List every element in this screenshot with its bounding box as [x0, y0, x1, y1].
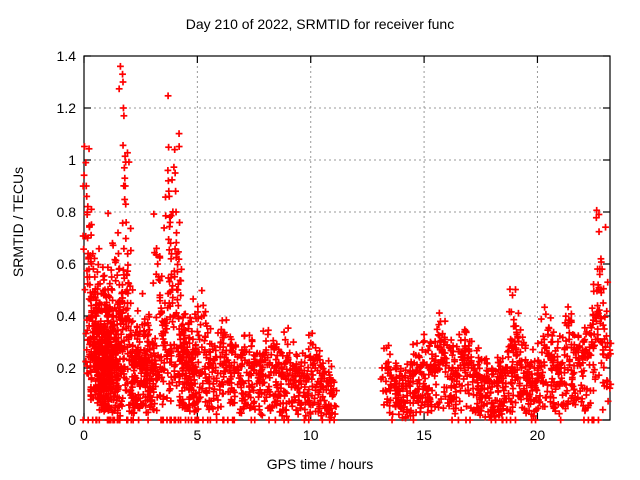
chart-figure: Day 210 of 2022, SRMTID for receiver fun… [0, 0, 640, 480]
scatter-plot-canvas [0, 0, 640, 480]
data-points [80, 63, 615, 423]
